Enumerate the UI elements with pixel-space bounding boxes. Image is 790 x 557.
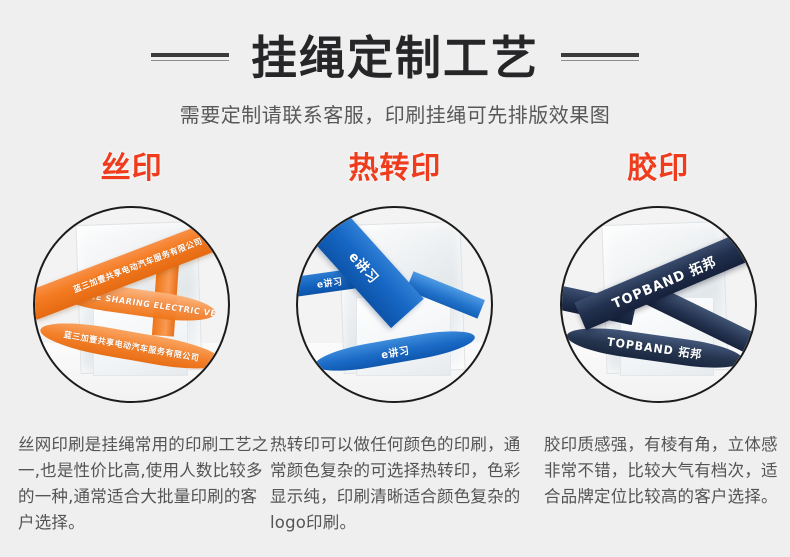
process-descriptions: 丝网印刷是挂绳常用的印刷工艺之一,也是性价比高,使用人数比较多的一种,通常适合大… [0,432,790,536]
process-title-offset: 胶印 [627,150,689,188]
process-column-offset: 胶印 TOPBAND 拓邦 TOPBAND 拓邦 [527,150,790,403]
process-description-offset: 胶印质感强，有棱有角，立体感非常不错，比较大气有档次，适合品牌定位比较高的客户选… [544,432,790,536]
lanyard-print-text-lower: e讲习 [379,341,410,361]
process-title-heat-transfer: 热转印 [348,150,441,188]
process-column-silkscreen: 丝印 蓝三加壹共享电动汽车服务有限公司 BLUE PLUS ONE SHARIN… [0,150,263,403]
process-photo-offset: TOPBAND 拓邦 TOPBAND 拓邦 [560,206,757,403]
process-title-silkscreen: 丝印 [101,150,163,188]
process-description-silkscreen: 丝网印刷是挂绳常用的印刷工艺之一,也是性价比高,使用人数比较多的一种,通常适合大… [18,432,270,536]
title-rule-right-icon [561,52,639,64]
header: 挂绳定制工艺 需要定制请联系客服，印刷挂绳可先排版效果图 [0,26,790,128]
process-photo-silkscreen: 蓝三加壹共享电动汽车服务有限公司 BLUE PLUS ONE SHARING E… [33,206,230,403]
process-photo-heat-transfer: e讲习 e讲习 e讲习 [296,206,493,403]
lanyard-printing-process-banner: 挂绳定制工艺 需要定制请联系客服，印刷挂绳可先排版效果图 丝印 蓝三加壹共享电动… [0,0,790,557]
page-subtitle: 需要定制请联系客服，印刷挂绳可先排版效果图 [0,102,790,128]
page-title: 挂绳定制工艺 [251,30,539,86]
process-columns: 丝印 蓝三加壹共享电动汽车服务有限公司 BLUE PLUS ONE SHARIN… [0,150,790,403]
title-rule-left-icon [151,52,229,64]
lanyard-print-text-main: e讲习 [345,246,384,287]
title-row: 挂绳定制工艺 [0,26,790,90]
lanyard-print-text-left: e讲习 [316,273,344,290]
process-column-heat-transfer: 热转印 e讲习 e讲习 e讲习 [263,150,526,403]
process-description-heat-transfer: 热转印可以做任何颜色的印刷，通常颜色复杂的可选择热转印，色彩显示纯，印刷清晰适合… [270,432,530,536]
